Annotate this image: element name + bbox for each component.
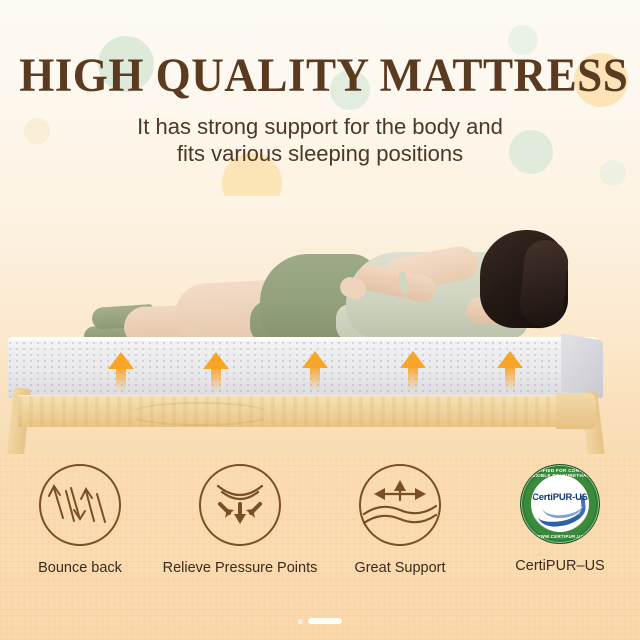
header-section: HIGH QUALITY MATTRESS It has strong supp… bbox=[0, 0, 640, 196]
features-section: Bounce back bbox=[0, 454, 640, 640]
feature-label: Great Support bbox=[354, 560, 445, 577]
pagination-dot-active[interactable] bbox=[308, 618, 342, 624]
hero-product-photo bbox=[0, 196, 640, 454]
feature-certipur-us[interactable]: CERTIFIED FOR CONTENT FLEXIBLE POLYURETH… bbox=[480, 464, 640, 604]
great-support-wave-icon bbox=[359, 464, 441, 546]
bounce-back-arrows-icon bbox=[39, 464, 121, 546]
feature-relieve-pressure-points[interactable]: Relieve Pressure Points bbox=[160, 464, 320, 604]
badge-inner-disc: CertiPUR-US bbox=[532, 476, 588, 532]
page-title: HIGH QUALITY MATTRESS bbox=[19, 48, 621, 103]
mattress-right-face bbox=[561, 333, 603, 398]
features-row: Bounce back bbox=[0, 464, 640, 604]
product-infographic-page: HIGH QUALITY MATTRESS It has strong supp… bbox=[0, 0, 640, 640]
badge-center-text: CertiPUR-US bbox=[532, 492, 588, 503]
bed-frame-rail bbox=[18, 395, 594, 427]
subtitle-line-2: fits various sleeping positions bbox=[0, 140, 640, 167]
support-arrow-up-icon bbox=[497, 351, 523, 391]
feature-label: Relieve Pressure Points bbox=[163, 560, 318, 577]
page-subtitle: It has strong support for the body and f… bbox=[0, 113, 640, 167]
support-arrow-up-icon bbox=[108, 352, 134, 392]
carousel-pagination[interactable] bbox=[0, 618, 640, 624]
bed-frame-rail-end bbox=[556, 393, 596, 429]
certipur-us-badge-icon: CERTIFIED FOR CONTENT FLEXIBLE POLYURETH… bbox=[520, 464, 600, 544]
relieve-pressure-arrows-icon bbox=[199, 464, 281, 546]
feature-great-support[interactable]: Great Support bbox=[320, 464, 480, 604]
feature-bounce-back[interactable]: Bounce back bbox=[0, 464, 160, 604]
subtitle-line-1: It has strong support for the body and bbox=[0, 113, 640, 140]
pagination-dot[interactable] bbox=[298, 619, 303, 624]
support-arrow-up-icon bbox=[302, 351, 328, 391]
support-arrow-up-icon bbox=[203, 352, 229, 392]
feature-label: Bounce back bbox=[38, 560, 122, 577]
feature-label: CertiPUR–US bbox=[515, 558, 604, 575]
support-arrow-up-icon bbox=[400, 351, 426, 391]
badge-arc-bottom-text: WWW.CERTIPUR.US bbox=[521, 534, 599, 539]
